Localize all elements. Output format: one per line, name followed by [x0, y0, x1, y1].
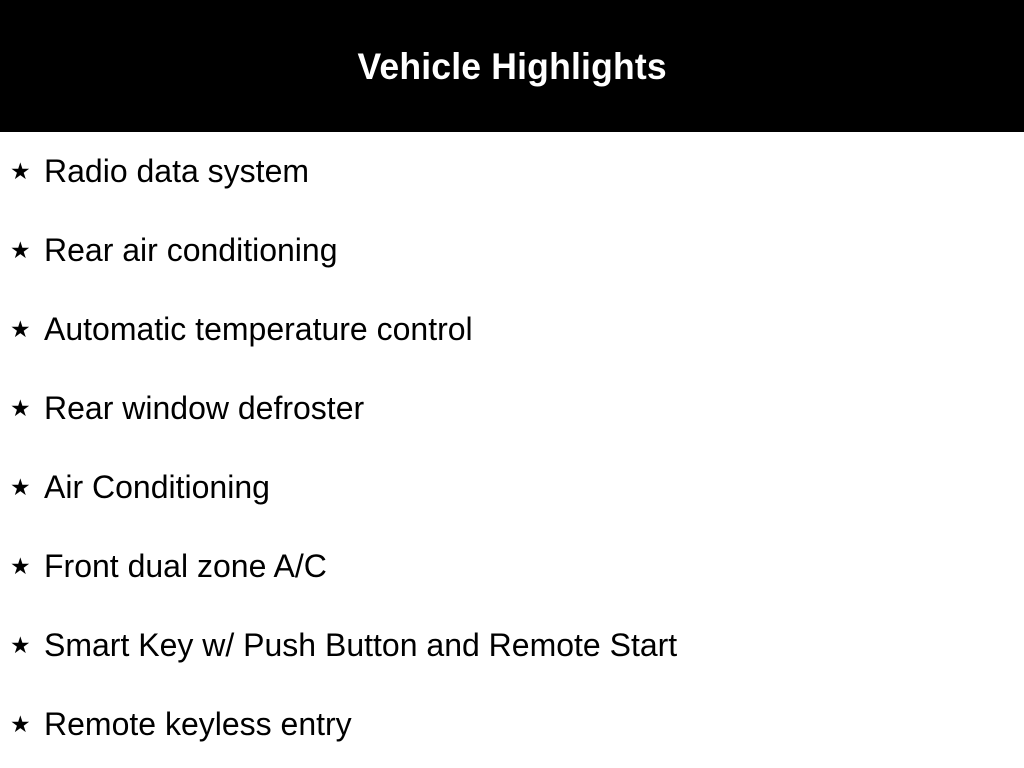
vehicle-highlights-page: Vehicle Highlights ★ Radio data system ★… [0, 0, 1024, 768]
list-item-label: Air Conditioning [44, 470, 270, 505]
list-item-label: Rear window defroster [44, 391, 364, 426]
list-item: ★ Radio data system [0, 152, 1024, 192]
star-icon: ★ [10, 714, 32, 737]
star-icon: ★ [10, 240, 32, 263]
star-icon: ★ [10, 477, 32, 500]
star-icon: ★ [10, 556, 32, 579]
list-item-label: Remote keyless entry [44, 707, 352, 742]
list-item-label: Radio data system [44, 154, 309, 189]
list-item-label: Automatic temperature control [44, 312, 473, 347]
page-title: Vehicle Highlights [357, 48, 666, 85]
list-item-label: Smart Key w/ Push Button and Remote Star… [44, 628, 677, 663]
list-item: ★ Remote keyless entry [0, 705, 1024, 745]
star-icon: ★ [10, 161, 32, 184]
list-item-label: Rear air conditioning [44, 233, 338, 268]
list-item: ★ Air Conditioning [0, 468, 1024, 508]
page-header: Vehicle Highlights [0, 0, 1024, 132]
list-item: ★ Rear air conditioning [0, 231, 1024, 271]
list-item: ★ Rear window defroster [0, 389, 1024, 429]
list-item-label: Front dual zone A/C [44, 549, 327, 584]
star-icon: ★ [10, 398, 32, 421]
star-icon: ★ [10, 319, 32, 342]
vehicle-highlights-list: ★ Radio data system ★ Rear air condition… [0, 132, 1024, 768]
star-icon: ★ [10, 635, 32, 658]
list-item: ★ Automatic temperature control [0, 310, 1024, 350]
list-item: ★ Front dual zone A/C [0, 547, 1024, 587]
list-item: ★ Smart Key w/ Push Button and Remote St… [0, 626, 1024, 666]
